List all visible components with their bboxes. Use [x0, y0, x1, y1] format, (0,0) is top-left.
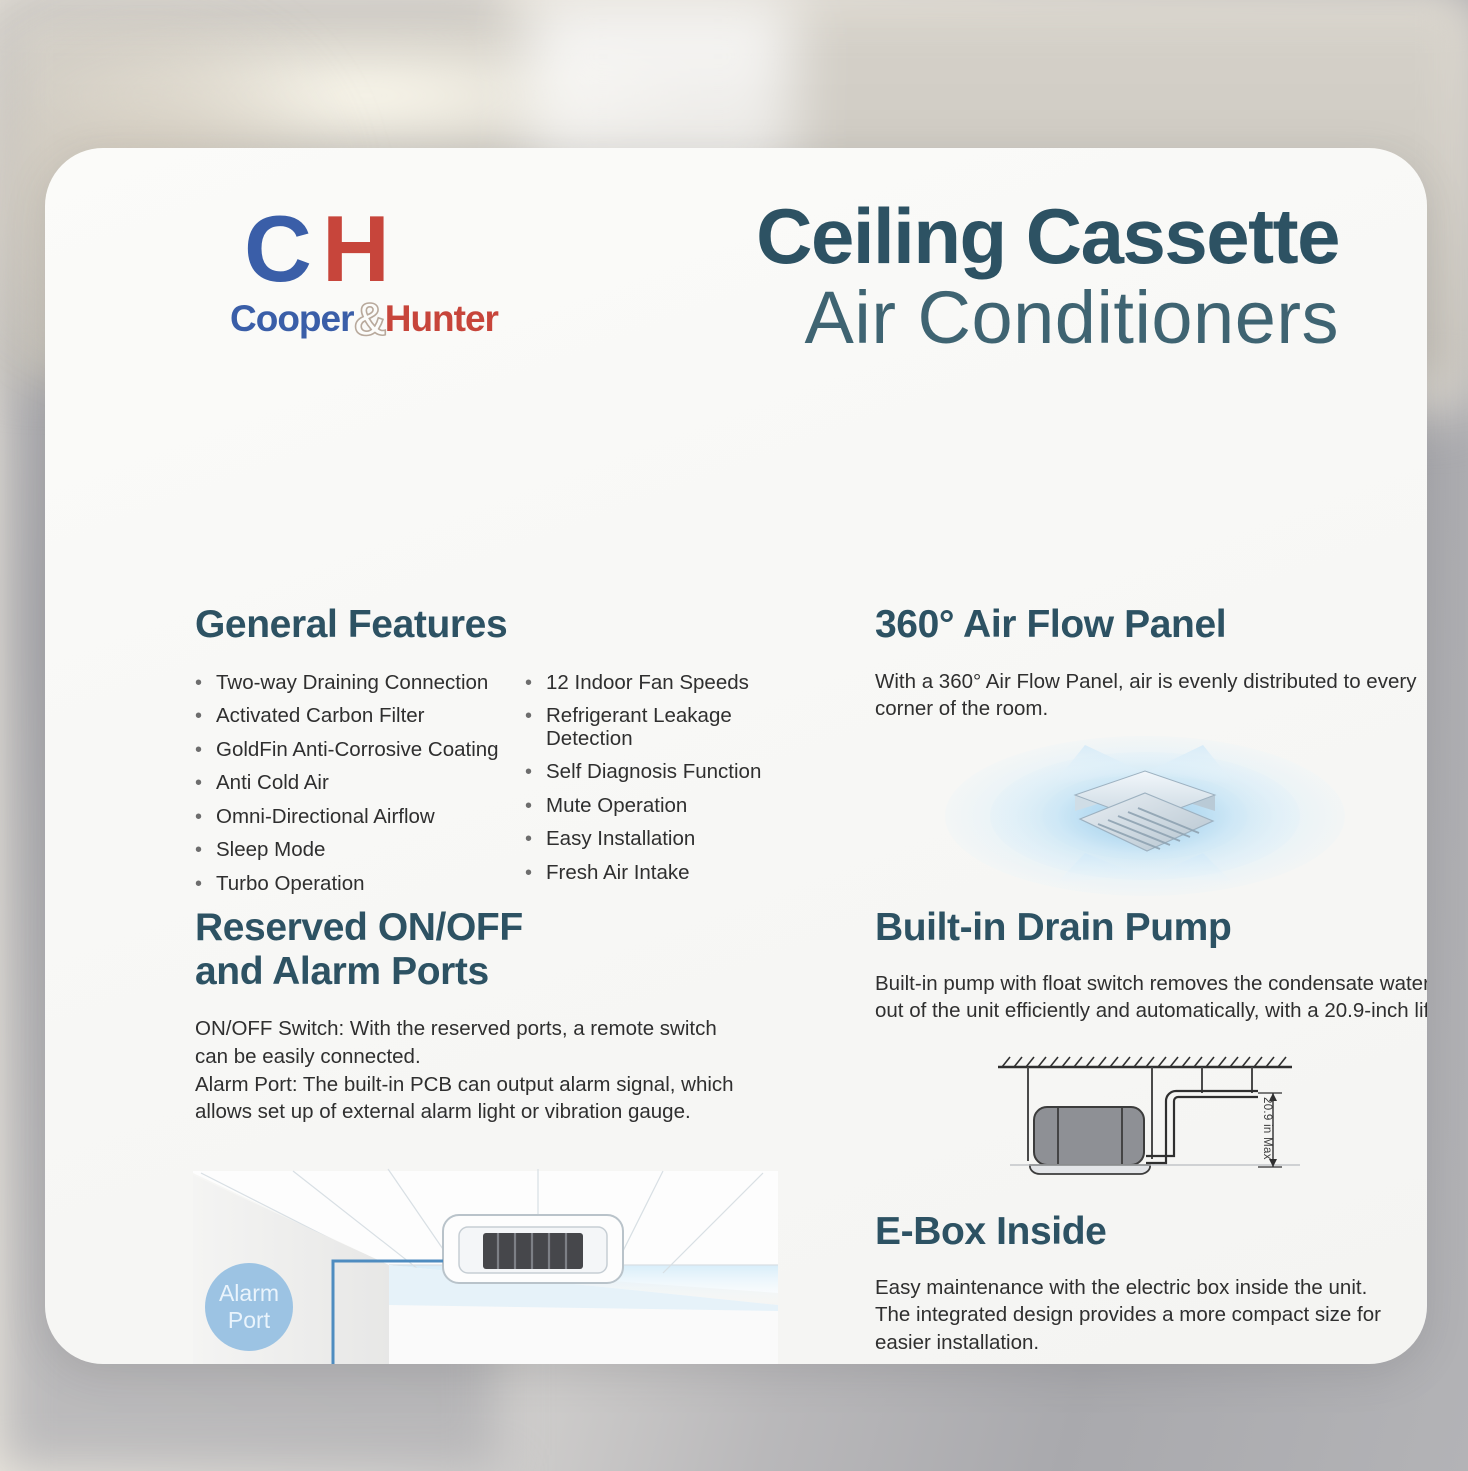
drain-pump-heading: Built-in Drain Pump: [875, 906, 1427, 950]
logo-ampersand: &: [354, 293, 385, 345]
ebox-body: Easy maintenance with the electric box i…: [875, 1274, 1395, 1357]
title-secondary: Air Conditioners: [756, 278, 1339, 358]
list-item: •Two-way Draining Connection: [195, 672, 525, 695]
bullet-icon: •: [525, 795, 546, 818]
section-ebox-inside: E-Box Inside Easy maintenance with the e…: [875, 1210, 1427, 1364]
air-flow-illustration: [935, 733, 1355, 898]
section-air-flow-panel: 360° Air Flow Panel With a 360° Air Flow…: [875, 603, 1427, 898]
drain-pump-diagram: 20.9 in Max: [990, 1049, 1320, 1179]
section-general-features: General Features •Two-way Draining Conne…: [195, 603, 815, 907]
callout-alarm-port: Alarm Port: [205, 1263, 293, 1351]
logo-word-hunter: Hunter: [385, 298, 498, 339]
ebox-heading: E-Box Inside: [875, 1210, 1427, 1254]
drain-pump-dimension-label: 20.9 in Max: [1261, 1097, 1273, 1160]
list-item: •Anti Cold Air: [195, 772, 525, 795]
cooper-and-hunter-logo: C H Cooper&Hunter: [230, 210, 530, 332]
reserved-ports-heading-line2: and Alarm Ports: [195, 950, 795, 994]
bullet-icon: •: [195, 772, 216, 795]
air-flow-body: With a 360° Air Flow Panel, air is evenl…: [875, 668, 1420, 723]
general-features-lists: •Two-way Draining Connection •Activated …: [195, 672, 815, 907]
list-item: •Activated Carbon Filter: [195, 705, 525, 728]
room-installation-diagram: Alarm Port ON/OFF Switch Eternal remote …: [193, 1153, 778, 1364]
bullet-icon: •: [195, 739, 216, 762]
drain-pump-body: Built-in pump with float switch removes …: [875, 970, 1427, 1025]
bullet-icon: •: [195, 672, 216, 695]
bullet-icon: •: [195, 873, 216, 896]
list-item: •Sleep Mode: [195, 839, 525, 862]
logo-letter-c: C: [244, 210, 308, 288]
reserved-ports-body-alarm: Alarm Port: The built-in PCB can output …: [195, 1071, 740, 1126]
ceiling-cassette-unit: [443, 1215, 623, 1283]
reserved-ports-body-onoff: ON/OFF Switch: With the reserved ports, …: [195, 1015, 740, 1070]
reserved-ports-heading-line1: Reserved ON/OFF: [195, 906, 795, 950]
logo-monogram: C H: [230, 210, 530, 288]
features-column-left: •Two-way Draining Connection •Activated …: [195, 672, 525, 907]
list-item: •Refrigerant Leakage Detection: [525, 705, 815, 750]
bullet-icon: •: [195, 806, 216, 829]
bullet-icon: •: [525, 828, 546, 851]
list-item: •GoldFin Anti-Corrosive Coating: [195, 739, 525, 762]
section-reserved-ports: Reserved ON/OFF and Alarm Ports ON/OFF S…: [195, 906, 795, 1126]
features-column-right: •12 Indoor Fan Speeds •Refrigerant Leaka…: [525, 672, 815, 907]
logo-word-cooper: Cooper: [230, 298, 354, 339]
bullet-icon: •: [525, 862, 546, 885]
cassette-unit-icon: [935, 733, 1355, 898]
section-drain-pump: Built-in Drain Pump Built-in pump with f…: [875, 906, 1427, 1179]
bullet-icon: •: [525, 672, 546, 695]
list-item: •Omni-Directional Airflow: [195, 806, 525, 829]
bullet-icon: •: [195, 705, 216, 728]
bullet-icon: •: [525, 705, 546, 750]
logo-letter-h: H: [322, 210, 386, 288]
general-features-heading: General Features: [195, 603, 815, 647]
list-item: •12 Indoor Fan Speeds: [525, 672, 815, 695]
list-item: •Easy Installation: [525, 828, 815, 851]
bullet-icon: •: [195, 839, 216, 862]
bullet-icon: •: [525, 761, 546, 784]
list-item: •Self Diagnosis Function: [525, 761, 815, 784]
logo-wordmark: Cooper&Hunter: [230, 288, 498, 342]
card-header: C H Cooper&Hunter Ceiling Cassette Air C…: [45, 148, 1427, 398]
air-flow-heading: 360° Air Flow Panel: [875, 603, 1427, 647]
list-item: •Fresh Air Intake: [525, 862, 815, 885]
title-primary: Ceiling Cassette: [756, 198, 1339, 274]
page-title: Ceiling Cassette Air Conditioners: [756, 198, 1339, 358]
list-item: •Mute Operation: [525, 795, 815, 818]
list-item: •Turbo Operation: [195, 873, 525, 896]
product-info-card: C H Cooper&Hunter Ceiling Cassette Air C…: [45, 148, 1427, 1364]
